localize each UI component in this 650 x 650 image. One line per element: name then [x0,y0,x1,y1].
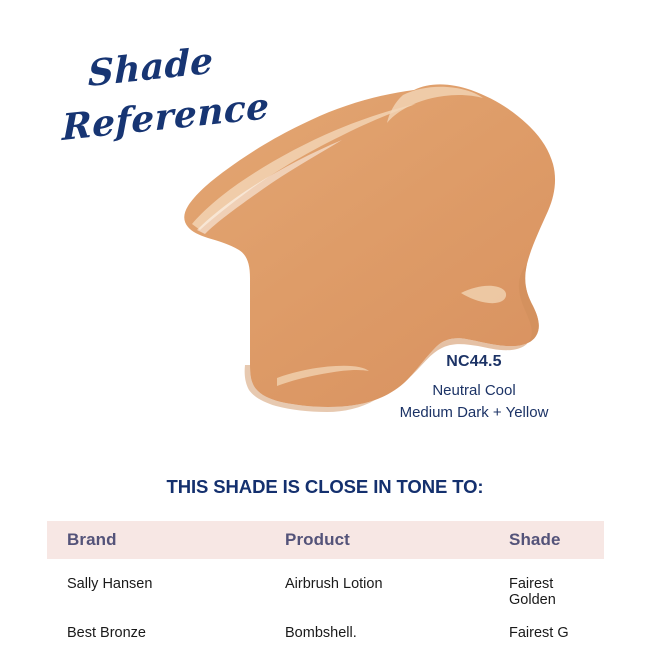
shade-info-block: NC44.5 Neutral Cool Medium Dark + Yellow [324,352,624,424]
shade-description-line-1: Neutral Cool [324,380,624,402]
cell-brand: Sally Hansen [47,559,267,608]
cell-product: Airbrush Lotion [267,559,491,608]
shade-description-line-2: Medium Dark + Yellow [324,402,624,424]
column-header-brand: Brand [47,521,267,559]
cell-shade: Fairest G [491,608,604,641]
shade-code: NC44.5 [324,352,624,371]
table-row: Sally Hansen Airbrush Lotion Fairest Gol… [47,559,604,608]
cell-brand: Best Bronze [47,608,267,641]
shade-reference-card: Shade Reference [0,0,650,650]
column-header-product: Product [267,521,491,559]
cell-product: Bombshell. [267,608,491,641]
column-header-shade: Shade [491,521,604,559]
similar-shades-table: Brand Product Shade Sally Hansen Airbrus… [47,521,604,641]
cell-shade: Fairest Golden [491,559,604,608]
table-header-row: Brand Product Shade [47,521,604,559]
table-row: Best Bronze Bombshell. Fairest G [47,608,604,641]
section-title: THIS SHADE IS CLOSE IN TONE TO: [0,476,650,498]
